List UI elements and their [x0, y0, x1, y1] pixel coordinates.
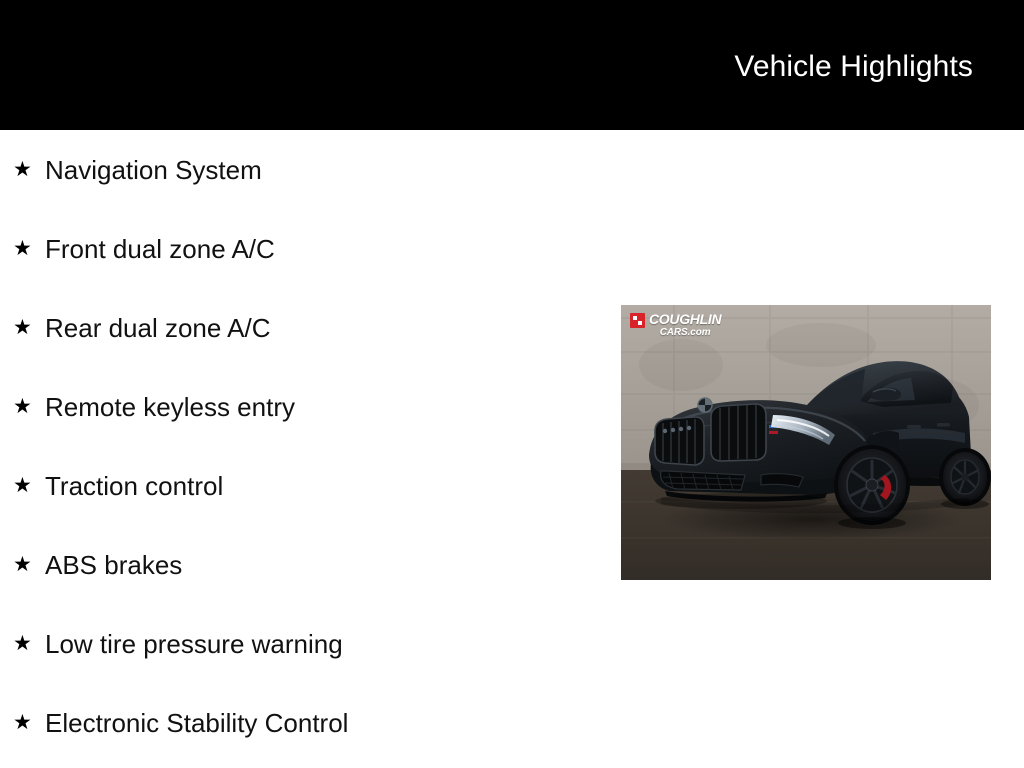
star-bullet-icon: ★ — [13, 238, 34, 259]
star-bullet-icon: ★ — [13, 159, 34, 180]
header-bar: Vehicle Highlights — [0, 0, 1024, 130]
highlight-label: ABS brakes — [45, 550, 600, 580]
highlight-label: Traction control — [45, 471, 600, 501]
highlight-label: Rear dual zone A/C — [45, 313, 600, 343]
highlight-label: Low tire pressure warning — [45, 629, 600, 659]
highlight-label: Remote keyless entry — [45, 392, 600, 422]
list-item: ★ Front dual zone A/C — [0, 209, 600, 288]
highlight-label: Front dual zone A/C — [45, 234, 600, 264]
star-bullet-icon: ★ — [13, 396, 34, 417]
list-item: ★ Remote keyless entry — [0, 367, 600, 446]
star-bullet-icon: ★ — [13, 712, 34, 733]
list-item: ★ ABS brakes — [0, 525, 600, 604]
list-item: ★ Navigation System — [0, 130, 600, 209]
star-bullet-icon: ★ — [13, 475, 34, 496]
star-bullet-icon: ★ — [13, 554, 34, 575]
vehicle-highlights-list: ★ Navigation System ★ Front dual zone A/… — [0, 130, 600, 762]
list-item: ★ Traction control — [0, 446, 600, 525]
vehicle-highlights-page: Vehicle Highlights ★ Navigation System ★… — [0, 0, 1024, 768]
list-item: ★ Low tire pressure warning — [0, 604, 600, 683]
star-bullet-icon: ★ — [13, 317, 34, 338]
vehicle-photo: COUGHLIN CARS.com — [621, 305, 991, 580]
highlight-label: Electronic Stability Control — [45, 708, 600, 738]
page-title: Vehicle Highlights — [734, 49, 973, 85]
list-item: ★ Electronic Stability Control — [0, 683, 600, 762]
star-bullet-icon: ★ — [13, 633, 34, 654]
list-item: ★ Rear dual zone A/C — [0, 288, 600, 367]
highlight-label: Navigation System — [45, 155, 600, 185]
vehicle-photo-illustration — [621, 305, 991, 580]
